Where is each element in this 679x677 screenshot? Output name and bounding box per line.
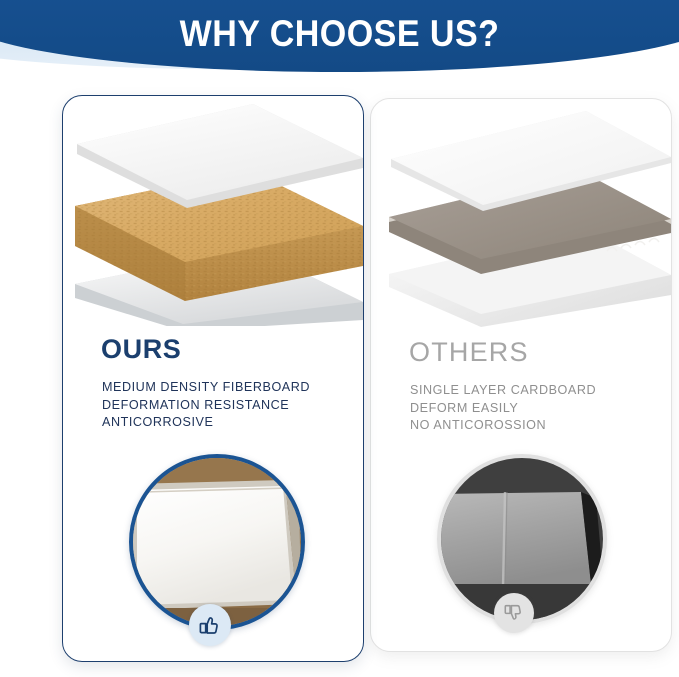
others-board-illustration [371, 99, 671, 329]
thumbs-up-icon [198, 613, 222, 637]
thumbs-down-icon [503, 602, 525, 624]
header-banner: WHY CHOOSE US? [0, 0, 679, 88]
comparison-panel-ours: OURS MEDIUM DENSITY FIBERBOARD DEFORMATI… [62, 95, 364, 662]
product-photo-ours [129, 454, 305, 630]
thumbs-up-badge [189, 604, 231, 646]
spec-item: SINGLE LAYER CARDBOARD [410, 382, 660, 400]
ours-board-illustration [63, 96, 363, 326]
panel-heading-ours: OURS [101, 334, 181, 365]
spec-item: MEDIUM DENSITY FIBERBOARD [102, 379, 352, 397]
spec-item: ANTICORROSIVE [102, 414, 352, 432]
panel-heading-others: OTHERS [409, 337, 529, 368]
spec-item: NO ANTICOROSSION [410, 417, 660, 435]
spec-item: DEFORM EASILY [410, 400, 660, 418]
spec-item: DEFORMATION RESISTANCE [102, 397, 352, 415]
spec-list-others: SINGLE LAYER CARDBOARD DEFORM EASILY NO … [410, 382, 660, 435]
spec-list-ours: MEDIUM DENSITY FIBERBOARD DEFORMATION RE… [102, 379, 352, 432]
infographic-root: WHY CHOOSE US? [0, 0, 679, 677]
comparison-panel-others: OTHERS SINGLE LAYER CARDBOARD DEFORM EAS… [370, 98, 672, 652]
page-title: WHY CHOOSE US? [27, 13, 652, 55]
thumbs-down-badge [494, 593, 534, 633]
